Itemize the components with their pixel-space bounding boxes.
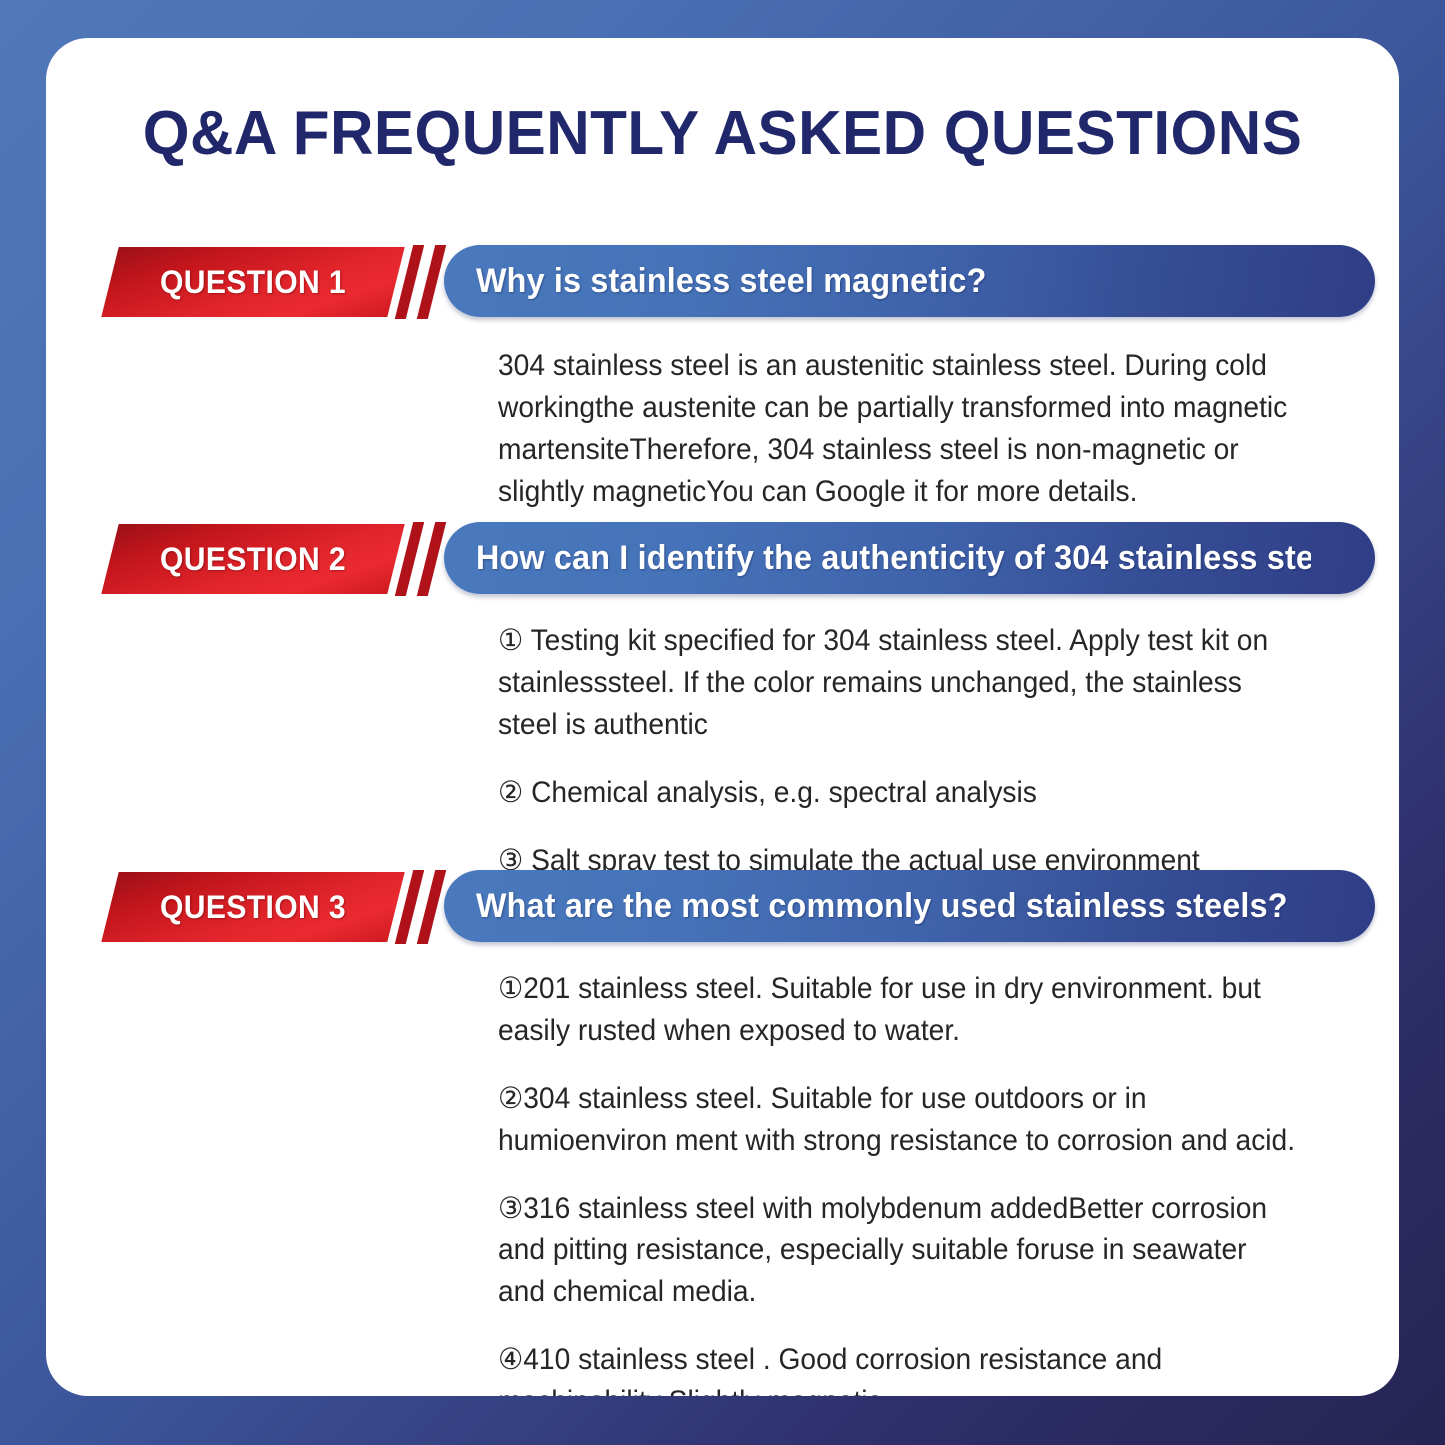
answer-paragraph: ① Testing kit specified for 304 stainles… [498, 620, 1301, 746]
question-text-1: Why is stainless steel magnetic? [476, 245, 1311, 317]
answer-paragraph: ③316 stainless steel with molybdenum add… [498, 1188, 1301, 1314]
question-header-3[interactable]: QUESTION 3 What are the most commonly us… [46, 868, 1399, 946]
question-banner-label-3: QUESTION 3 [119, 872, 388, 942]
question-banner-label-1: QUESTION 1 [119, 247, 388, 317]
question-banner-label-2: QUESTION 2 [119, 524, 388, 594]
question-text-3: What are the most commonly used stainles… [476, 870, 1311, 942]
question-header-1[interactable]: QUESTION 1 Why is stainless steel magnet… [46, 243, 1399, 321]
answer-paragraph: ②304 stainless steel. Suitable for use o… [498, 1078, 1301, 1162]
question-text-2: How can I identify the authenticity of 3… [476, 522, 1311, 594]
answer-block-1: 304 stainless steel is an austenitic sta… [498, 345, 1301, 513]
page-title: Q&A FREQUENTLY ASKED QUESTIONS [66, 98, 1378, 169]
question-pill-2[interactable]: How can I identify the authenticity of 3… [444, 522, 1375, 594]
answer-block-3: ①201 stainless steel. Suitable for use i… [498, 968, 1301, 1396]
answer-block-2: ① Testing kit specified for 304 stainles… [498, 620, 1301, 881]
answer-paragraph: ② Chemical analysis, e.g. spectral analy… [498, 772, 1301, 814]
question-pill-3[interactable]: What are the most commonly used stainles… [444, 870, 1375, 942]
faq-item-1: QUESTION 1 Why is stainless steel magnet… [46, 243, 1399, 321]
faq-infographic: Q&A FREQUENTLY ASKED QUESTIONS QUESTION … [0, 0, 1445, 1445]
faq-item-2: QUESTION 2 How can I identify the authen… [46, 520, 1399, 598]
answer-paragraph: ④410 stainless steel . Good corrosion re… [498, 1339, 1301, 1396]
faq-item-3: QUESTION 3 What are the most commonly us… [46, 868, 1399, 946]
answer-paragraph: 304 stainless steel is an austenitic sta… [498, 345, 1301, 513]
answer-paragraph: ①201 stainless steel. Suitable for use i… [498, 968, 1301, 1052]
content-card: Q&A FREQUENTLY ASKED QUESTIONS QUESTION … [46, 38, 1399, 1396]
question-pill-1[interactable]: Why is stainless steel magnetic? [444, 245, 1375, 317]
question-header-2[interactable]: QUESTION 2 How can I identify the authen… [46, 520, 1399, 598]
